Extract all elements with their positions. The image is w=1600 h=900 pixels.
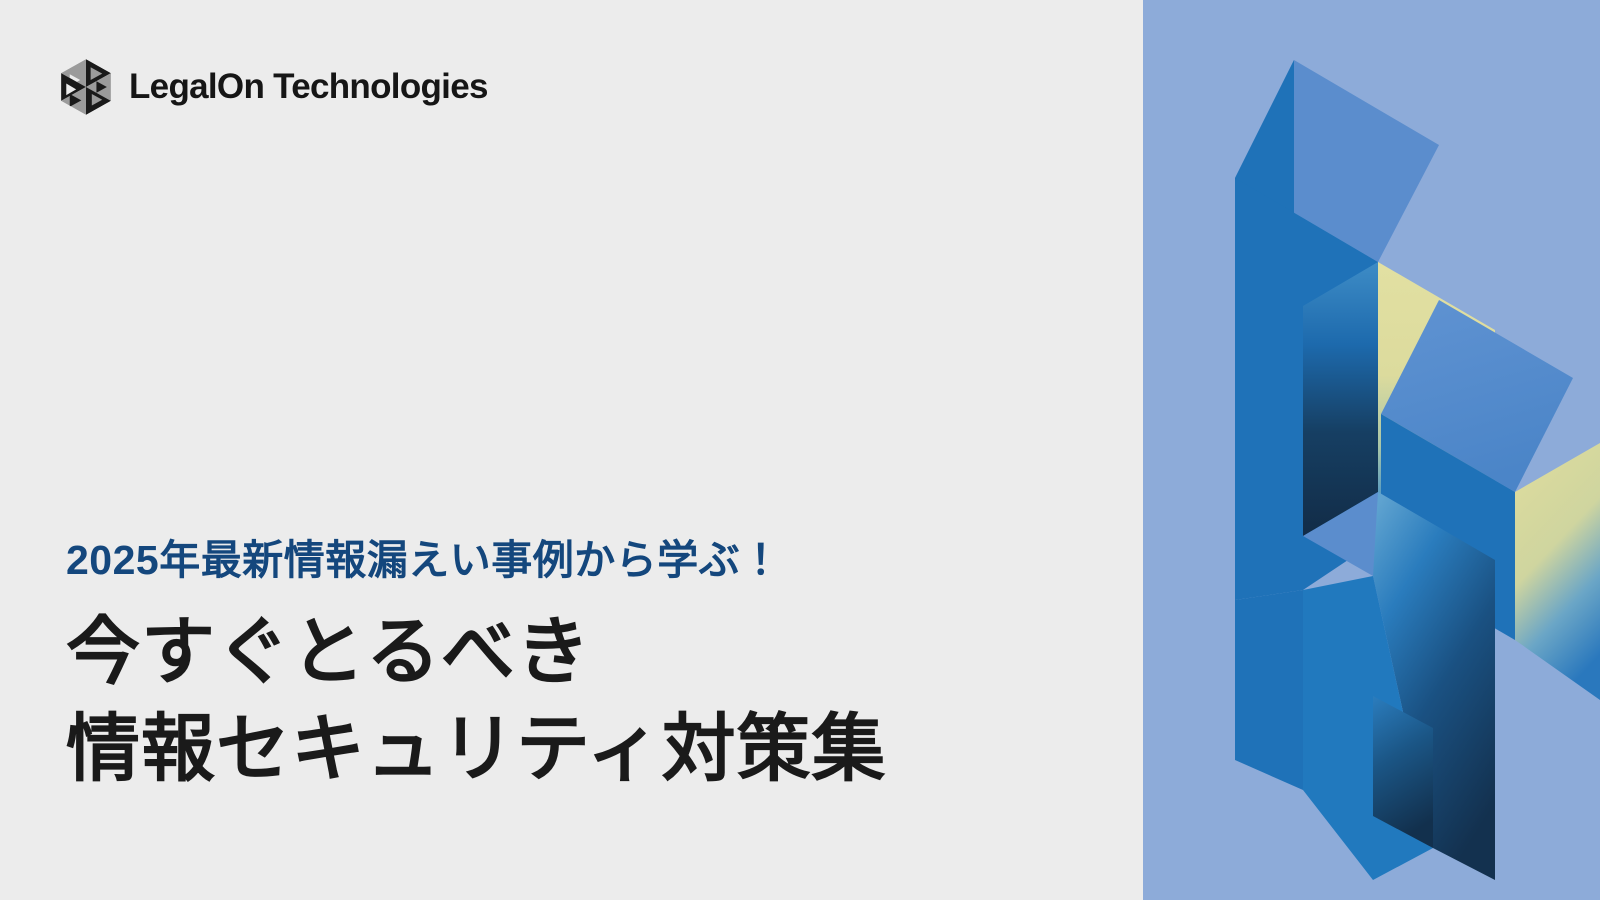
art-face-shadow-upper [1303, 262, 1378, 536]
eyebrow-text: 2025年最新情報漏えい事例から学ぶ！ [66, 536, 1106, 584]
title-line-2: 情報セキュリティ対策集 [66, 701, 1106, 797]
art-face-accent-right [1515, 443, 1600, 700]
artwork-panel [1143, 0, 1600, 900]
brand-logo-lockup: LegalOn Technologies [57, 58, 488, 116]
title-line-1: 今すぐとるべき [66, 604, 1106, 700]
legalon-hex-mark-icon [57, 58, 115, 116]
brand-wordmark: LegalOn Technologies [129, 69, 488, 106]
slide-canvas: LegalOn Technologies 2025年最新情報漏えい事例から学ぶ！… [0, 0, 1600, 900]
art-face-bottom-left [1235, 590, 1303, 790]
headline-block: 2025年最新情報漏えい事例から学ぶ！ 今すぐとるべき 情報セキュリティ対策集 [66, 536, 1106, 797]
isometric-3d-arrow-graphic [1143, 0, 1600, 900]
